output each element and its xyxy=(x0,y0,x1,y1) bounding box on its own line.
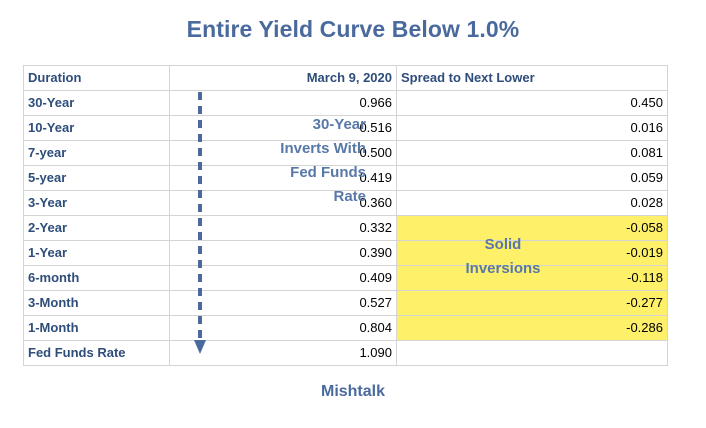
table-row: 3-Month0.527-0.277 xyxy=(24,291,668,316)
cell-duration: 3-Year xyxy=(24,191,170,216)
table-row: 5-year0.4190.059 xyxy=(24,166,668,191)
cell-spread: 0.016 xyxy=(397,116,668,141)
cell-duration: 3-Month xyxy=(24,291,170,316)
column-header-date: March 9, 2020 xyxy=(170,66,397,91)
table-header: Duration March 9, 2020 Spread to Next Lo… xyxy=(24,66,668,91)
page-title: Entire Yield Curve Below 1.0% xyxy=(0,16,706,43)
yield-curve-table: Duration March 9, 2020 Spread to Next Lo… xyxy=(23,65,668,366)
column-header-spread: Spread to Next Lower xyxy=(397,66,668,91)
cell-duration: 30-Year xyxy=(24,91,170,116)
table-row: 1-Year0.390-0.019 xyxy=(24,241,668,266)
table-row: 3-Year0.3600.028 xyxy=(24,191,668,216)
table-body: 30-Year0.9660.45010-Year0.5160.0167-year… xyxy=(24,91,668,366)
table-row: 6-month0.409-0.118 xyxy=(24,266,668,291)
source-label: Mishtalk xyxy=(0,383,706,401)
cell-spread: 0.081 xyxy=(397,141,668,166)
cell-spread-highlighted: -0.058 xyxy=(397,216,668,241)
cell-spread-highlighted: -0.286 xyxy=(397,316,668,341)
cell-duration: 5-year xyxy=(24,166,170,191)
down-arrow-dashed-icon xyxy=(193,92,207,358)
cell-spread xyxy=(397,341,668,366)
cell-duration: 1-Month xyxy=(24,316,170,341)
column-header-duration: Duration xyxy=(24,66,170,91)
table-row: 30-Year0.9660.450 xyxy=(24,91,668,116)
table-header-row: Duration March 9, 2020 Spread to Next Lo… xyxy=(24,66,668,91)
table-row: 7-year0.5000.081 xyxy=(24,141,668,166)
table-row: 2-Year0.332-0.058 xyxy=(24,216,668,241)
table-row: Fed Funds Rate1.090 xyxy=(24,341,668,366)
cell-duration: 2-Year xyxy=(24,216,170,241)
cell-spread: 0.059 xyxy=(397,166,668,191)
cell-duration: 6-month xyxy=(24,266,170,291)
cell-duration: Fed Funds Rate xyxy=(24,341,170,366)
cell-spread-highlighted: -0.118 xyxy=(397,266,668,291)
cell-spread-highlighted: -0.019 xyxy=(397,241,668,266)
cell-spread: 0.028 xyxy=(397,191,668,216)
cell-duration: 1-Year xyxy=(24,241,170,266)
table-row: 1-Month0.804-0.286 xyxy=(24,316,668,341)
cell-spread-highlighted: -0.277 xyxy=(397,291,668,316)
cell-duration: 7-year xyxy=(24,141,170,166)
cell-duration: 10-Year xyxy=(24,116,170,141)
cell-spread: 0.450 xyxy=(397,91,668,116)
table-row: 10-Year0.5160.016 xyxy=(24,116,668,141)
